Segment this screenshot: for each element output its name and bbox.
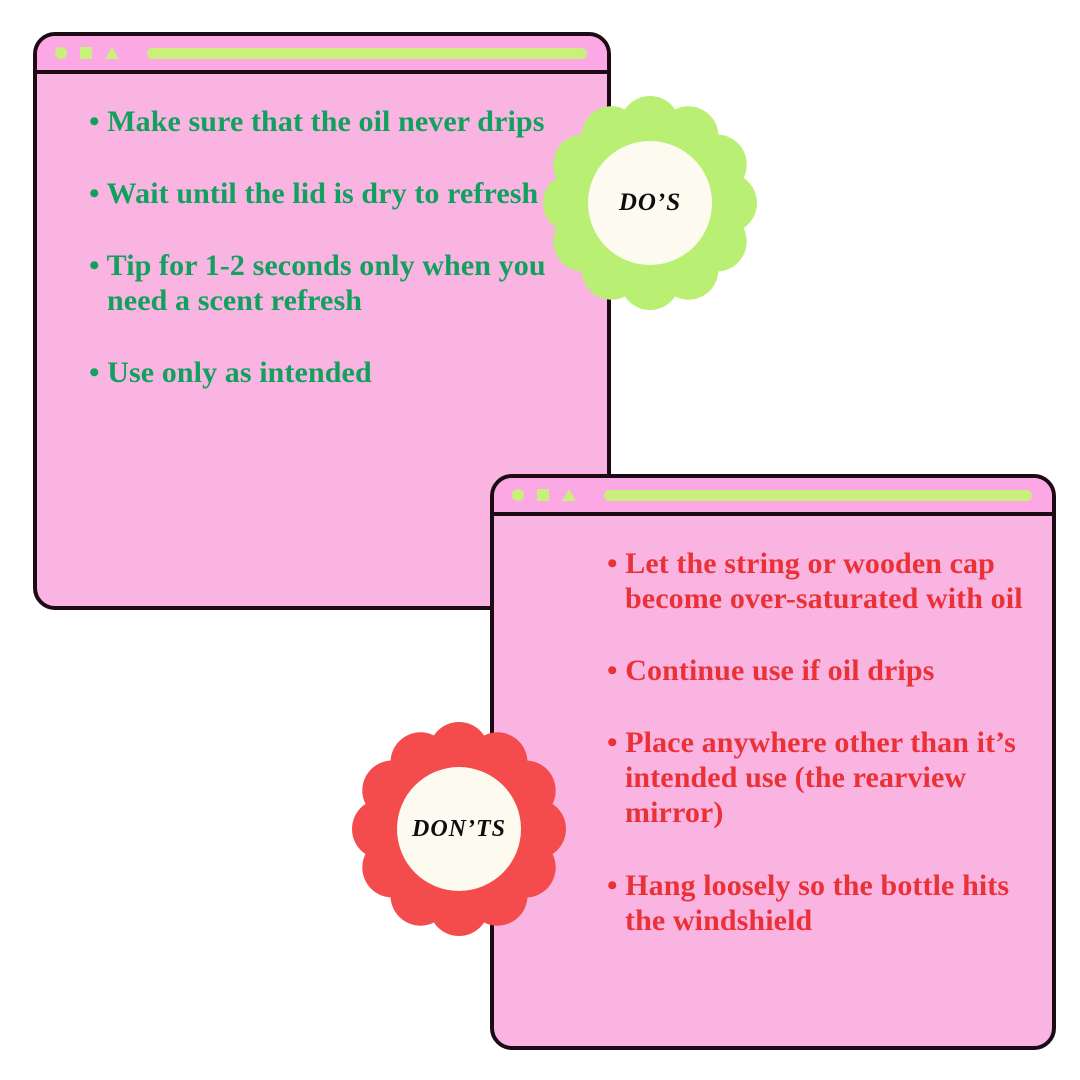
dos-window-titlebar [37, 36, 607, 74]
list-item: • Use only as intended [89, 355, 581, 390]
donts-window-card: • Let the string or wooden cap become ov… [490, 474, 1056, 1050]
dos-address-bar[interactable] [147, 48, 587, 59]
triangle-icon[interactable] [562, 489, 576, 501]
circle-icon[interactable] [55, 47, 67, 59]
donts-window-titlebar [494, 478, 1052, 516]
donts-window-body: • Let the string or wooden cap become ov… [494, 516, 1052, 1042]
list-item: • Place anywhere other than it’s intende… [607, 725, 1026, 830]
circle-icon[interactable] [512, 489, 524, 501]
donts-titlebar-controls [512, 489, 576, 501]
list-item: • Make sure that the oil never drips [89, 104, 581, 139]
flower-icon [543, 96, 757, 310]
list-item: • Tip for 1-2 seconds only when you need… [89, 248, 581, 318]
donts-bullet-list: • Let the string or wooden cap become ov… [607, 546, 1026, 938]
donts-flower-badge: DON’TS [352, 722, 566, 936]
dos-titlebar-controls [55, 47, 119, 59]
list-item: • Continue use if oil drips [607, 653, 1026, 688]
flower-icon [352, 722, 566, 936]
dos-bullet-list: • Make sure that the oil never drips • W… [89, 104, 581, 390]
list-item: • Wait until the lid is dry to refresh [89, 176, 581, 211]
triangle-icon[interactable] [105, 47, 119, 59]
square-icon[interactable] [80, 47, 92, 59]
list-item: • Let the string or wooden cap become ov… [607, 546, 1026, 616]
donts-address-bar[interactable] [604, 490, 1032, 501]
square-icon[interactable] [537, 489, 549, 501]
list-item: • Hang loosely so the bottle hits the wi… [607, 868, 1026, 938]
dos-flower-badge: DO’S [543, 96, 757, 310]
